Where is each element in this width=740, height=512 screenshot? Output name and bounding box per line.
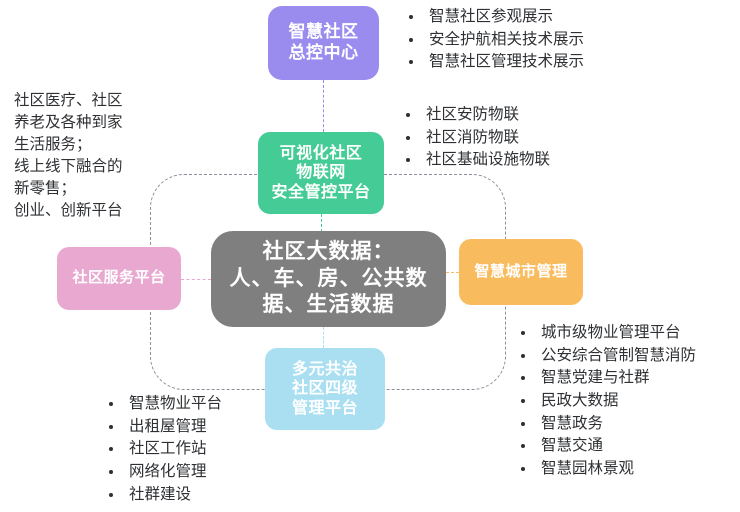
text-line: 社区医疗、社区 (14, 90, 123, 112)
list-item: 安全护航相关技术展示 (405, 29, 584, 52)
node-green-line-2: 物联网 (271, 163, 370, 183)
text-line: 线上线下融合的 (14, 156, 123, 178)
list-item: 社区安防物联 (402, 104, 550, 127)
text-line: 新零售； (14, 178, 123, 200)
connector-top-to-green (323, 80, 324, 132)
node-top-line-2: 总控中心 (289, 43, 359, 64)
list-control-center-items: 智慧社区参观展示 安全护航相关技术展示 智慧社区管理技术展示 (405, 6, 584, 74)
list-item: 智慧园林景观 (517, 458, 696, 481)
list-smart-city-items: 城市级物业管理平台 公安综合管制智慧消防 智慧党建与社群 民政大数据 智慧政务 … (517, 322, 696, 480)
list-item: 智慧交通 (517, 435, 696, 458)
connector-green-to-center (321, 214, 322, 232)
list-item: 社区基础设施物联 (402, 149, 550, 172)
node-smart-community-control-center[interactable]: 智慧社区 总控中心 (268, 6, 379, 80)
list-item: 智慧政务 (517, 413, 696, 436)
node-smart-city-management[interactable]: 智慧城市管理 (459, 239, 583, 305)
list-item: 网络化管理 (105, 461, 222, 484)
text-line: 生活服务； (14, 134, 123, 156)
node-center-line-3: 据、生活数据 (230, 292, 428, 318)
node-center-line-2: 人、车、房、公共数 (230, 266, 428, 292)
list-item: 智慧社区参观展示 (405, 6, 584, 29)
list-item: 智慧党建与社群 (517, 367, 696, 390)
list-item: 社区工作站 (105, 438, 222, 461)
node-visual-community-iot-platform[interactable]: 可视化社区 物联网 安全管控平台 (258, 132, 384, 214)
list-item: 城市级物业管理平台 (517, 322, 696, 345)
list-item: 出租屋管理 (105, 416, 222, 439)
node-community-big-data[interactable]: 社区大数据： 人、车、房、公共数 据、生活数据 (211, 231, 446, 327)
connector-pink-to-center (181, 279, 211, 280)
node-pink-line-1: 社区服务平台 (72, 269, 165, 287)
list-item: 社区消防物联 (402, 127, 550, 150)
list-governance-platform-items: 智慧物业平台 出租屋管理 社区工作站 网络化管理 社群建设 (105, 393, 222, 506)
list-item: 社群建设 (105, 484, 222, 507)
connector-center-to-blue (323, 327, 324, 348)
node-top-line-1: 智慧社区 (289, 22, 359, 43)
text-line: 养老及各种到家 (14, 112, 123, 134)
node-blue-line-2: 社区四级 (292, 379, 358, 399)
node-center-line-1: 社区大数据： (230, 239, 428, 265)
list-item: 公安综合管制智慧消防 (517, 345, 696, 368)
node-blue-line-1: 多元共治 (292, 360, 358, 380)
text-line: 创业、创新平台 (14, 200, 123, 222)
text-community-service-description: 社区医疗、社区 养老及各种到家 生活服务； 线上线下融合的 新零售； 创业、创新… (14, 90, 123, 222)
list-item: 智慧物业平台 (105, 393, 222, 416)
diagram-canvas: 社区大数据： 人、车、房、公共数 据、生活数据 智慧社区 总控中心 可视化社区 … (0, 0, 740, 512)
list-item: 民政大数据 (517, 390, 696, 413)
node-four-level-governance-platform[interactable]: 多元共治 社区四级 管理平台 (265, 348, 385, 430)
node-blue-line-3: 管理平台 (292, 399, 358, 419)
node-community-service-platform[interactable]: 社区服务平台 (57, 247, 181, 310)
list-item: 智慧社区管理技术展示 (405, 51, 584, 74)
node-orange-line-1: 智慧城市管理 (474, 263, 567, 281)
connector-center-to-orange (446, 272, 459, 273)
node-green-line-3: 安全管控平台 (271, 183, 370, 203)
list-iot-platform-items: 社区安防物联 社区消防物联 社区基础设施物联 (402, 104, 550, 172)
node-green-line-1: 可视化社区 (271, 144, 370, 164)
